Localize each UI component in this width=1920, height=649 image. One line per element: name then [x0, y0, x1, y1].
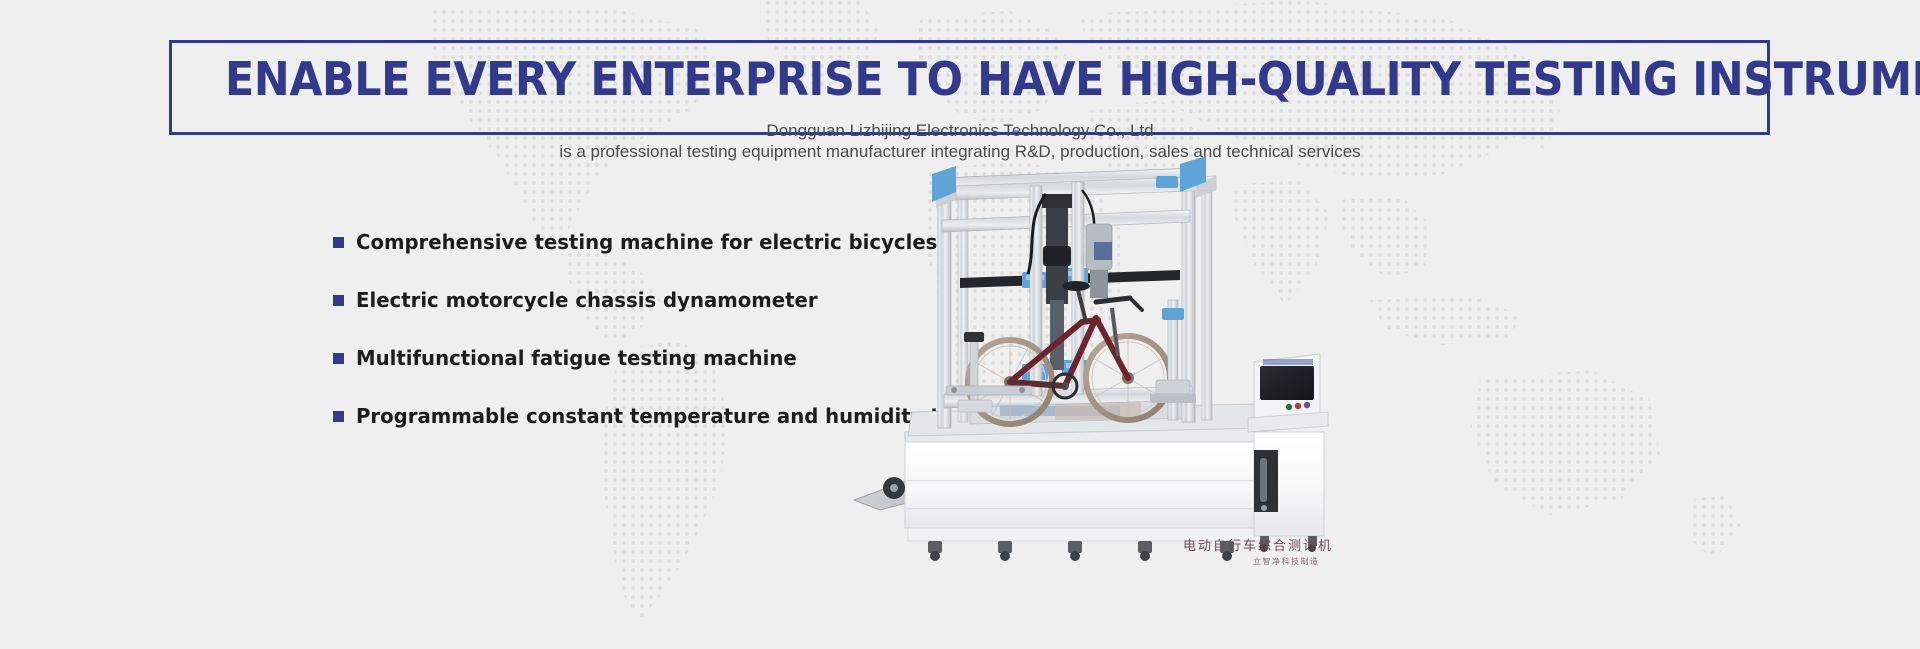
machine-nameplate-cn: 电动自行车综合测试机 — [1183, 535, 1333, 554]
feature-label: Electric motorcycle chassis dynamometer — [356, 288, 818, 312]
page-title: ENABLE EVERY ENTERPRISE TO HAVE HIGH-QUA… — [225, 52, 1714, 106]
machine-nameplate-sub-cn: 立智净科技制造 — [1253, 556, 1320, 567]
product-photo — [850, 150, 1550, 649]
bullet-square-icon — [333, 295, 344, 306]
promo-banner: ENABLE EVERY ENTERPRISE TO HAVE HIGH-QUA… — [0, 0, 1920, 649]
bullet-square-icon — [333, 237, 344, 248]
company-name: Dongguan Lizhijing Electronics Technolog… — [0, 120, 1920, 142]
feature-label: Multifunctional fatigue testing machine — [356, 346, 797, 370]
bullet-square-icon — [333, 411, 344, 422]
bullet-square-icon — [333, 353, 344, 364]
control-console — [1248, 354, 1328, 552]
